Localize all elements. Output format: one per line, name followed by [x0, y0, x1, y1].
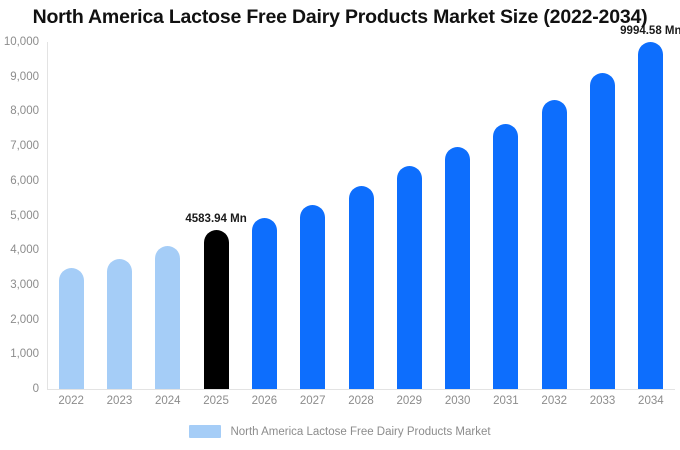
x-axis-tick-label: 2024: [155, 395, 181, 407]
x-axis-tick-label: 2031: [493, 395, 519, 407]
bar-2025[interactable]: 4583.94 Mn: [204, 230, 229, 389]
legend-label[interactable]: North America Lactose Free Dairy Product…: [230, 426, 490, 438]
bar-2023[interactable]: [107, 259, 132, 389]
x-axis-tick-label: 2028: [348, 395, 374, 407]
bar-2027[interactable]: [300, 205, 325, 389]
bar-2030[interactable]: [445, 147, 470, 389]
x-axis-tick-label: 2032: [541, 395, 567, 407]
chart-title: North America Lactose Free Dairy Product…: [0, 6, 680, 29]
bar-2026[interactable]: [252, 218, 277, 389]
bar-2028[interactable]: [349, 186, 374, 389]
bar-slot: [252, 42, 277, 389]
bar-slot: [493, 42, 518, 389]
bar-slot: 9994.58 Mn: [638, 42, 663, 389]
bar-slot: [445, 42, 470, 389]
x-axis-tick-label: 2030: [445, 395, 471, 407]
bar-2033[interactable]: [590, 73, 615, 389]
x-axis-tick-label: 2026: [252, 395, 278, 407]
bar-2034[interactable]: 9994.58 Mn: [638, 42, 663, 389]
plot-area: 4583.94 Mn9994.58 Mn 2022202320242025202…: [47, 42, 675, 389]
x-axis-line: [47, 389, 675, 390]
bar-series: 4583.94 Mn9994.58 Mn: [47, 42, 675, 389]
x-axis-tick-label: 2027: [300, 395, 326, 407]
x-axis-tick-label: 2022: [58, 395, 84, 407]
bar-slot: [542, 42, 567, 389]
bar-slot: [349, 42, 374, 389]
bar-slot: [155, 42, 180, 389]
y-axis-tick-label: 8,000: [0, 105, 39, 117]
y-axis-tick-label: 3,000: [0, 279, 39, 291]
chart-container: North America Lactose Free Dairy Product…: [0, 0, 680, 450]
y-axis-tick-label: 10,000: [0, 36, 39, 48]
x-axis-tick-label: 2023: [107, 395, 133, 407]
y-axis-tick-label: 7,000: [0, 140, 39, 152]
legend-swatch[interactable]: [189, 425, 221, 438]
x-axis-tick-label: 2025: [203, 395, 229, 407]
bar-2031[interactable]: [493, 124, 518, 389]
bar-slot: [107, 42, 132, 389]
bar-value-label-2025: 4583.94 Mn: [185, 213, 246, 225]
bar-2029[interactable]: [397, 166, 422, 389]
bar-slot: [590, 42, 615, 389]
x-axis-tick-label: 2033: [590, 395, 616, 407]
bar-slot: 4583.94 Mn: [204, 42, 229, 389]
bar-2022[interactable]: [59, 268, 84, 389]
y-axis-tick-label: 9,000: [0, 71, 39, 83]
bar-slot: [59, 42, 84, 389]
x-axis-tick-label: 2034: [638, 395, 664, 407]
y-axis-tick-label: 6,000: [0, 175, 39, 187]
x-axis-tick-label: 2029: [397, 395, 423, 407]
y-axis-tick-label: 0: [0, 383, 39, 395]
bar-slot: [300, 42, 325, 389]
y-axis-tick-label: 5,000: [0, 210, 39, 222]
bar-slot: [397, 42, 422, 389]
y-axis-tick-label: 2,000: [0, 314, 39, 326]
bar-2032[interactable]: [542, 100, 567, 389]
chart-legend: North America Lactose Free Dairy Product…: [0, 425, 680, 438]
bar-2024[interactable]: [155, 246, 180, 389]
y-axis-tick-label: 1,000: [0, 348, 39, 360]
y-axis-tick-label: 4,000: [0, 244, 39, 256]
